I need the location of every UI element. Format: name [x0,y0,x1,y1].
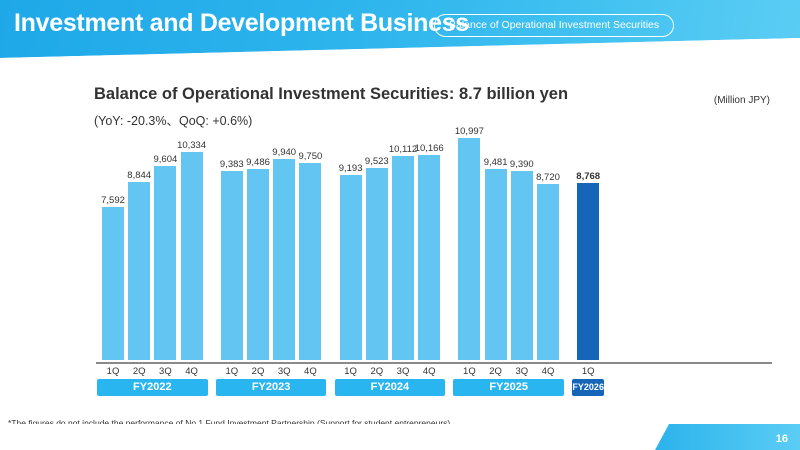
fiscal-year-label: FY2023 [216,379,327,396]
chart-bar [511,171,533,360]
bar-chart-plot-area: 7,5928,8449,60410,3349,3839,4869,9409,75… [96,130,772,360]
slide-footer: 16 [0,424,800,450]
chart-bar [221,171,243,360]
page-number: 16 [776,433,788,445]
chart-bar [273,159,295,360]
quarter-label: 1Q [571,366,605,377]
bar-value-label: 9,604 [146,154,184,165]
slide-header: Investment and Development Business Bala… [0,0,800,58]
bar-value-label: 9,523 [358,156,396,167]
chart-title: Balance of Operational Investment Securi… [94,85,568,104]
bar-value-label: 8,844 [120,170,158,181]
chart-x-axis [96,362,772,364]
chart-bar [458,138,480,360]
chart-bar [537,184,559,360]
chart-bar [485,169,507,360]
fiscal-year-label: FY2022 [97,379,208,396]
chart-bar [128,182,150,360]
page-title: Investment and Development Business [14,9,469,38]
bar-value-label: 8,768 [569,171,607,182]
bar-value-label: 10,166 [410,143,448,154]
fiscal-year-label: FY2024 [335,379,446,396]
bar-value-label: 9,750 [291,151,329,162]
chart-unit-note: (Million JPY) [714,95,770,106]
chart-bar [154,166,176,360]
chart-bar [102,207,124,360]
quarter-label: 4Q [412,366,446,377]
bar-value-label: 9,390 [503,159,541,170]
chart-bar [366,168,388,360]
header-section-badge: Balance of Operational Investment Securi… [434,14,674,37]
chart-bar [247,169,269,360]
quarter-label: 4Q [293,366,327,377]
chart-bar [340,175,362,360]
chart-bar [299,163,321,360]
bar-value-label: 7,592 [94,195,132,206]
chart-bar [577,183,599,360]
bar-value-label: 10,334 [173,140,211,151]
fiscal-year-label: FY2026 [572,379,604,396]
fiscal-year-label: FY2025 [453,379,564,396]
bar-value-label: 10,997 [450,126,488,137]
chart-bar [392,156,414,360]
quarter-label: 4Q [175,366,209,377]
quarter-label: 4Q [531,366,565,377]
chart-bar [418,155,440,360]
bar-value-label: 8,720 [529,172,567,183]
chart-subtitle: (YoY: -20.3%、QoQ: +0.6%) [94,110,252,129]
chart-bar [181,152,203,360]
